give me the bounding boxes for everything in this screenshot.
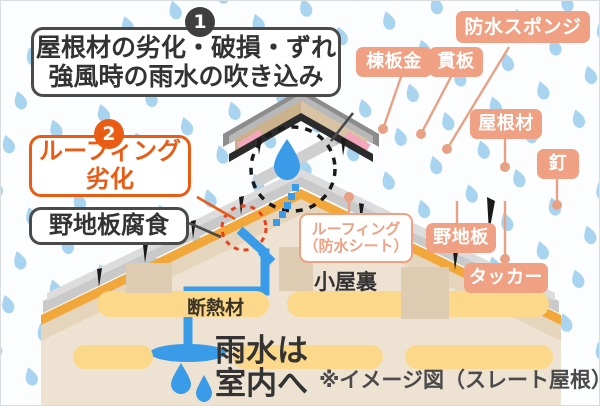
label-tacker-text: タッカー bbox=[469, 269, 543, 287]
callout-1-line-1: 屋根材の劣化・破損・ずれ bbox=[36, 33, 336, 62]
label-mune-bankin[interactable]: 棟板金 bbox=[356, 47, 432, 77]
label-tacker[interactable]: タッカー bbox=[464, 263, 548, 293]
footnote-text: ※イメージ図（スレート屋根） bbox=[319, 368, 600, 392]
label-attic-text: 小屋裏 bbox=[314, 270, 377, 294]
callout-2-number: 2 bbox=[94, 119, 124, 149]
label-kugi[interactable]: 釘 bbox=[537, 149, 579, 179]
leak-result-line-1: 雨水は bbox=[215, 335, 308, 368]
label-insulation-text: 断熱材 bbox=[187, 297, 244, 319]
label-nukiita-text: 貫板 bbox=[438, 53, 475, 71]
label-roofing-sheet-line-1: ルーフィング bbox=[312, 221, 401, 238]
callout-1[interactable]: 屋根材の劣化・破損・ずれ 強風時の雨水の吹き込み bbox=[31, 27, 341, 97]
callout-3[interactable]: 野地板腐食 bbox=[29, 207, 189, 245]
label-roofing-sheet-line-2: （防水シート） bbox=[303, 238, 408, 255]
callout-1-number: 1 bbox=[185, 7, 215, 37]
callout-3-line-1: 野地板腐食 bbox=[49, 212, 169, 240]
label-roofing-sheet[interactable]: ルーフィング （防水シート） bbox=[299, 213, 413, 263]
footnote: ※イメージ図（スレート屋根） bbox=[319, 364, 600, 394]
label-attic: 小屋裏 bbox=[314, 271, 377, 294]
label-kugi-text: 釘 bbox=[549, 155, 568, 173]
callout-1-line-2: 強風時の雨水の吹き込み bbox=[48, 62, 323, 91]
label-mune-bankin-text: 棟板金 bbox=[366, 53, 422, 71]
leak-result-text: 雨水は 室内へ bbox=[215, 335, 308, 402]
label-bousui-sponge-text: 防水スポンジ bbox=[464, 18, 581, 37]
label-yanezai[interactable]: 屋根材 bbox=[470, 109, 542, 139]
diagram-canvas: 1 屋根材の劣化・破損・ずれ 強風時の雨水の吹き込み 2 ルーフィング 劣化 野… bbox=[0, 0, 600, 406]
leak-result-line-2: 室内へ bbox=[215, 368, 308, 401]
label-bousui-sponge[interactable]: 防水スポンジ bbox=[456, 11, 590, 43]
callout-2-line-2: 劣化 bbox=[86, 166, 134, 194]
label-nukiita[interactable]: 貫板 bbox=[429, 47, 483, 77]
label-yanezai-text: 屋根材 bbox=[478, 115, 534, 133]
label-nojiita-text: 野地板 bbox=[433, 229, 489, 247]
label-insulation: 断熱材 bbox=[187, 293, 244, 320]
label-nojiita[interactable]: 野地板 bbox=[426, 223, 496, 253]
